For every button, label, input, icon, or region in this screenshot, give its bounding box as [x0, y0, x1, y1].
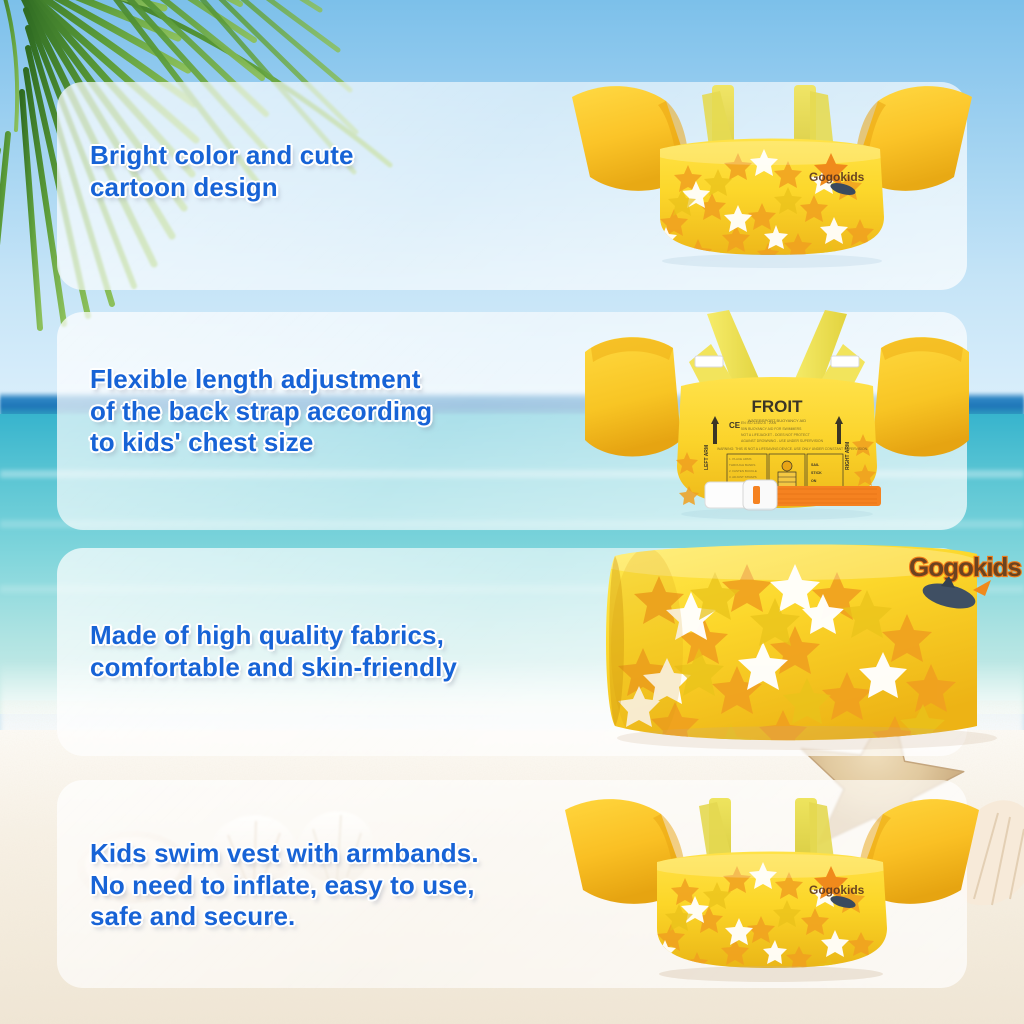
svg-text:STICK: STICK	[811, 471, 822, 475]
feature-text-2: Flexible length adjustment of the back s…	[90, 364, 432, 459]
svg-text:RIGHT ARM: RIGHT ARM	[845, 442, 851, 470]
infographic-stage: Bright color and cute cartoon design	[0, 0, 1024, 1024]
svg-text:Gogokids: Gogokids	[809, 170, 865, 184]
feature-panel-3: Made of high quality fabrics, comfortabl…	[57, 548, 967, 756]
svg-text:EN ISO 12402-6 : 2006: EN ISO 12402-6 : 2006	[741, 421, 776, 425]
svg-text:3. ADJUST STRAPS: 3. ADJUST STRAPS	[729, 475, 757, 479]
feature-panel-4: Kids swim vest with armbands. No need to…	[57, 780, 967, 988]
feature-text-4: Kids swim vest with armbands. No need to…	[90, 838, 479, 933]
svg-text:Gogokids: Gogokids	[909, 552, 1021, 582]
svg-text:1. PLACE ARMS: 1. PLACE ARMS	[729, 457, 752, 461]
svg-text:LEFT ARM: LEFT ARM	[704, 445, 710, 470]
product-image-front-vest: Gogokids	[562, 77, 982, 292]
product-image-fabric-closeup: Gogokids	[47, 538, 977, 768]
buckle-icon	[705, 480, 777, 510]
svg-text:SAIL: SAIL	[811, 463, 820, 467]
product-image-back-vest: FROIT WATERSPORT BUOYANCY AID CE EN ISO …	[577, 304, 977, 534]
svg-text:THROUGH BANDS: THROUGH BANDS	[729, 463, 755, 467]
svg-text:NOT A LIFEJACKET - DOES NOT PR: NOT A LIFEJACKET - DOES NOT PROTECT	[741, 433, 810, 437]
feature-text-1: Bright color and cute cartoon design	[90, 140, 354, 203]
svg-text:CE: CE	[729, 421, 741, 430]
svg-text:AGAINST DROWNING - USE UNDER S: AGAINST DROWNING - USE UNDER SUPERVISION	[741, 439, 824, 443]
product-image-vest-on-sand: Gogokids	[557, 780, 987, 995]
svg-text:FROIT: FROIT	[752, 397, 804, 416]
feature-panel-2: Flexible length adjustment of the back s…	[57, 312, 967, 530]
svg-text:Gogokids: Gogokids	[809, 883, 865, 897]
feature-panel-1: Bright color and cute cartoon design	[57, 82, 967, 290]
svg-text:50N BUOYANCY AID FOR SWIMMERS: 50N BUOYANCY AID FOR SWIMMERS	[741, 427, 802, 431]
svg-text:ON: ON	[811, 479, 817, 483]
svg-text:2. FASTEN BUCKLE: 2. FASTEN BUCKLE	[729, 469, 757, 473]
